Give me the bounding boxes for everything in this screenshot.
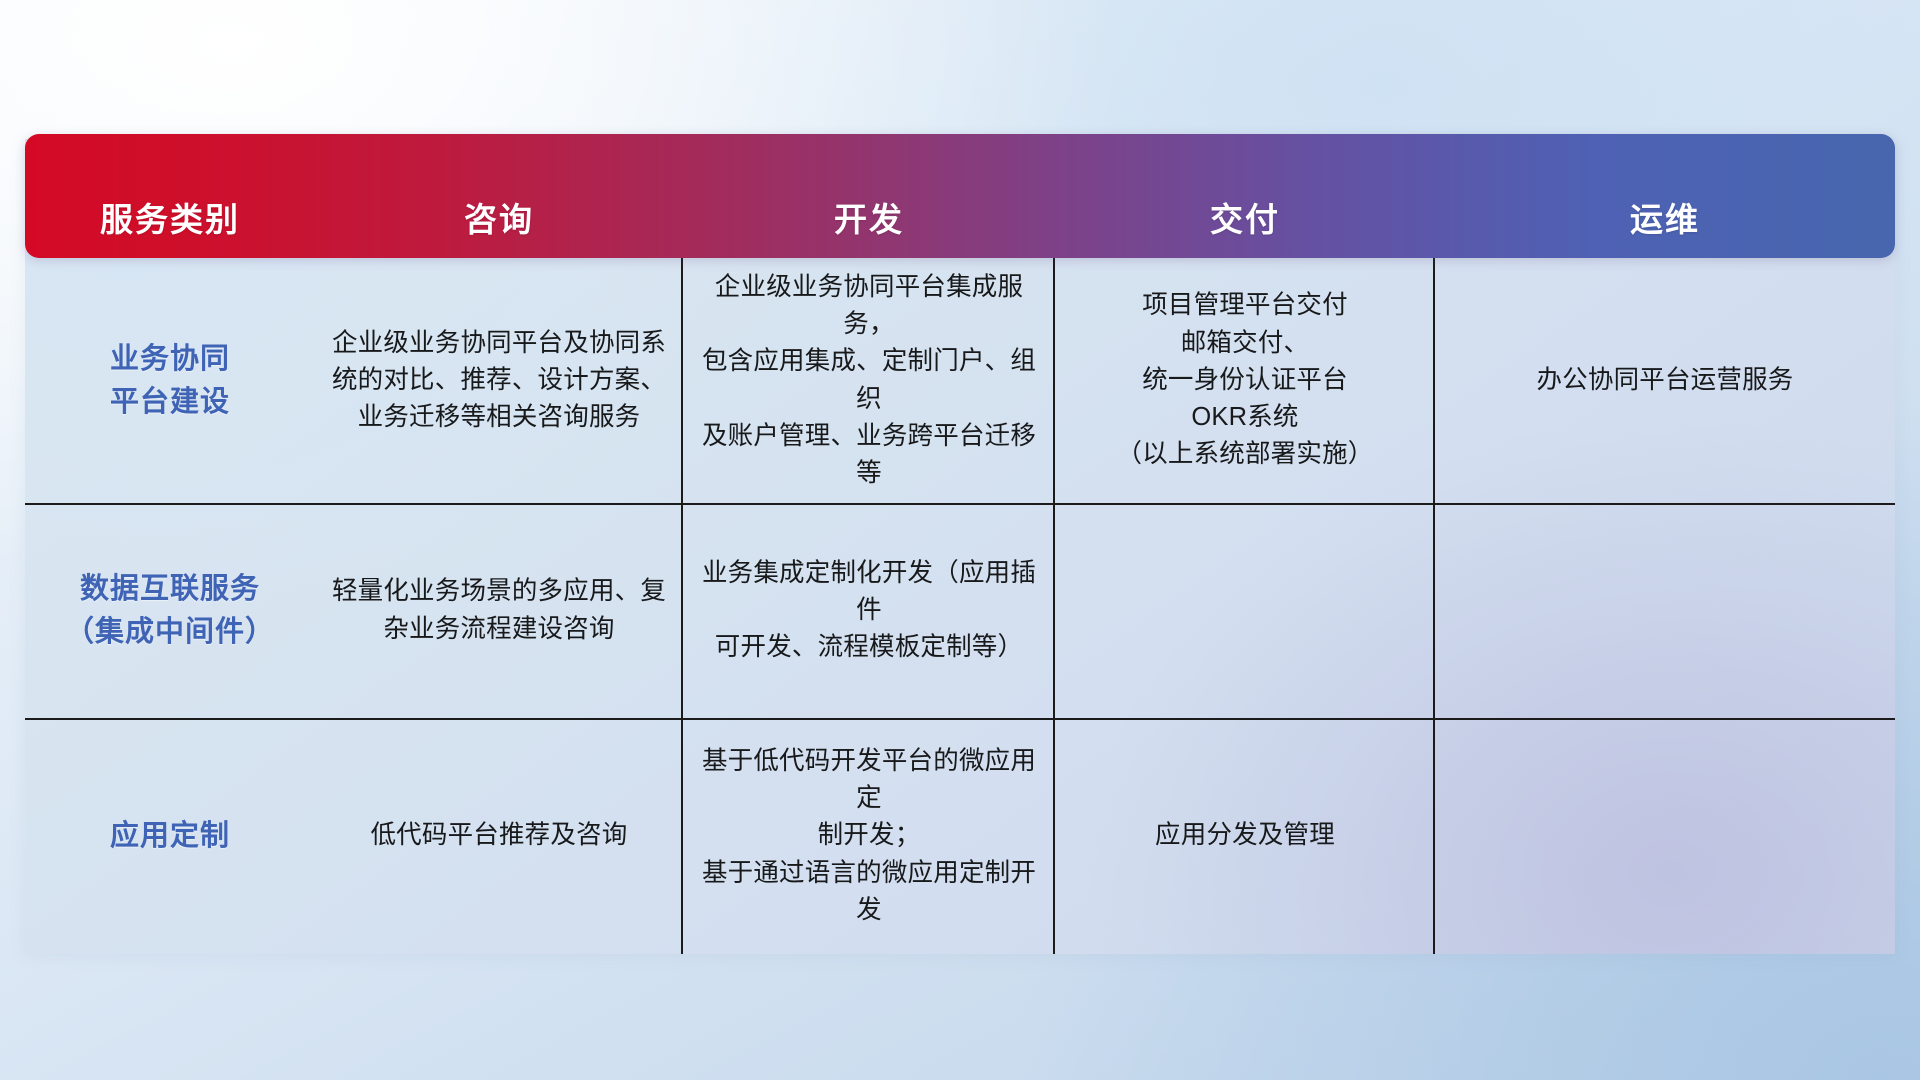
column-header-category: 服务类别 [25, 193, 315, 258]
table-header-row: 服务类别 咨询 开发 交付 运维 [25, 134, 1895, 258]
table-body: 业务协同 平台建设 企业级业务协同平台及协同系 统的对比、推荐、设计方案、 业务… [25, 258, 1895, 954]
cell-text: 项目管理平台交付 邮箱交付、 统一身份认证平台 OKR系统 （以上系统部署实施） [1116, 287, 1373, 473]
cell-consulting: 低代码平台推荐及咨询 [315, 718, 683, 954]
table-row: 业务协同 平台建设 企业级业务协同平台及协同系 统的对比、推荐、设计方案、 业务… [25, 258, 1895, 503]
cell-text: 业务集成定制化开发（应用插件 可开发、流程模板定制等） [697, 555, 1041, 667]
cell-operations: 办公协同平台运营服务 [1435, 258, 1895, 503]
column-header-consulting: 咨询 [315, 193, 683, 258]
table-row: 数据互联服务 （集成中间件） 轻量化业务场景的多应用、复 杂业务流程建设咨询 业… [25, 503, 1895, 718]
row-category-label: 数据互联服务 （集成中间件） [65, 568, 275, 652]
cell-operations [1435, 503, 1895, 718]
cell-delivery [1055, 503, 1435, 718]
cell-text: 低代码平台推荐及咨询 [370, 817, 627, 854]
slide-canvas: 服务类别 咨询 开发 交付 运维 业务协同 平台建设 企业级业务协同平台及协同系… [0, 0, 1920, 1080]
cell-text: 企业级业务协同平台及协同系 统的对比、推荐、设计方案、 业务迁移等相关咨询服务 [332, 325, 666, 437]
cell-text: 办公协同平台运营服务 [1536, 362, 1793, 399]
cell-development: 企业级业务协同平台集成服务， 包含应用集成、定制门户、组织 及账户管理、业务跨平… [683, 258, 1055, 503]
cell-development: 业务集成定制化开发（应用插件 可开发、流程模板定制等） [683, 503, 1055, 718]
row-category-label: 应用定制 [110, 815, 230, 857]
column-header-operations: 运维 [1435, 193, 1895, 258]
row-category-label: 业务协同 平台建设 [110, 338, 230, 422]
cell-delivery: 项目管理平台交付 邮箱交付、 统一身份认证平台 OKR系统 （以上系统部署实施） [1055, 258, 1435, 503]
row-category-cell: 数据互联服务 （集成中间件） [25, 503, 315, 718]
cell-text: 基于低代码开发平台的微应用定 制开发； 基于通过语言的微应用定制开发 [697, 743, 1041, 929]
cell-delivery: 应用分发及管理 [1055, 718, 1435, 954]
column-header-delivery: 交付 [1055, 193, 1435, 258]
cell-consulting: 轻量化业务场景的多应用、复 杂业务流程建设咨询 [315, 503, 683, 718]
cell-text: 轻量化业务场景的多应用、复 杂业务流程建设咨询 [332, 573, 666, 647]
cell-operations [1435, 718, 1895, 954]
cell-text: 企业级业务协同平台集成服务， 包含应用集成、定制门户、组织 及账户管理、业务跨平… [697, 269, 1041, 492]
table-row: 应用定制 低代码平台推荐及咨询 基于低代码开发平台的微应用定 制开发； 基于通过… [25, 718, 1895, 954]
row-category-cell: 应用定制 [25, 718, 315, 954]
column-header-development: 开发 [683, 193, 1055, 258]
cell-text: 应用分发及管理 [1155, 817, 1335, 854]
cell-development: 基于低代码开发平台的微应用定 制开发； 基于通过语言的微应用定制开发 [683, 718, 1055, 954]
row-category-cell: 业务协同 平台建设 [25, 258, 315, 503]
cell-consulting: 企业级业务协同平台及协同系 统的对比、推荐、设计方案、 业务迁移等相关咨询服务 [315, 258, 683, 503]
